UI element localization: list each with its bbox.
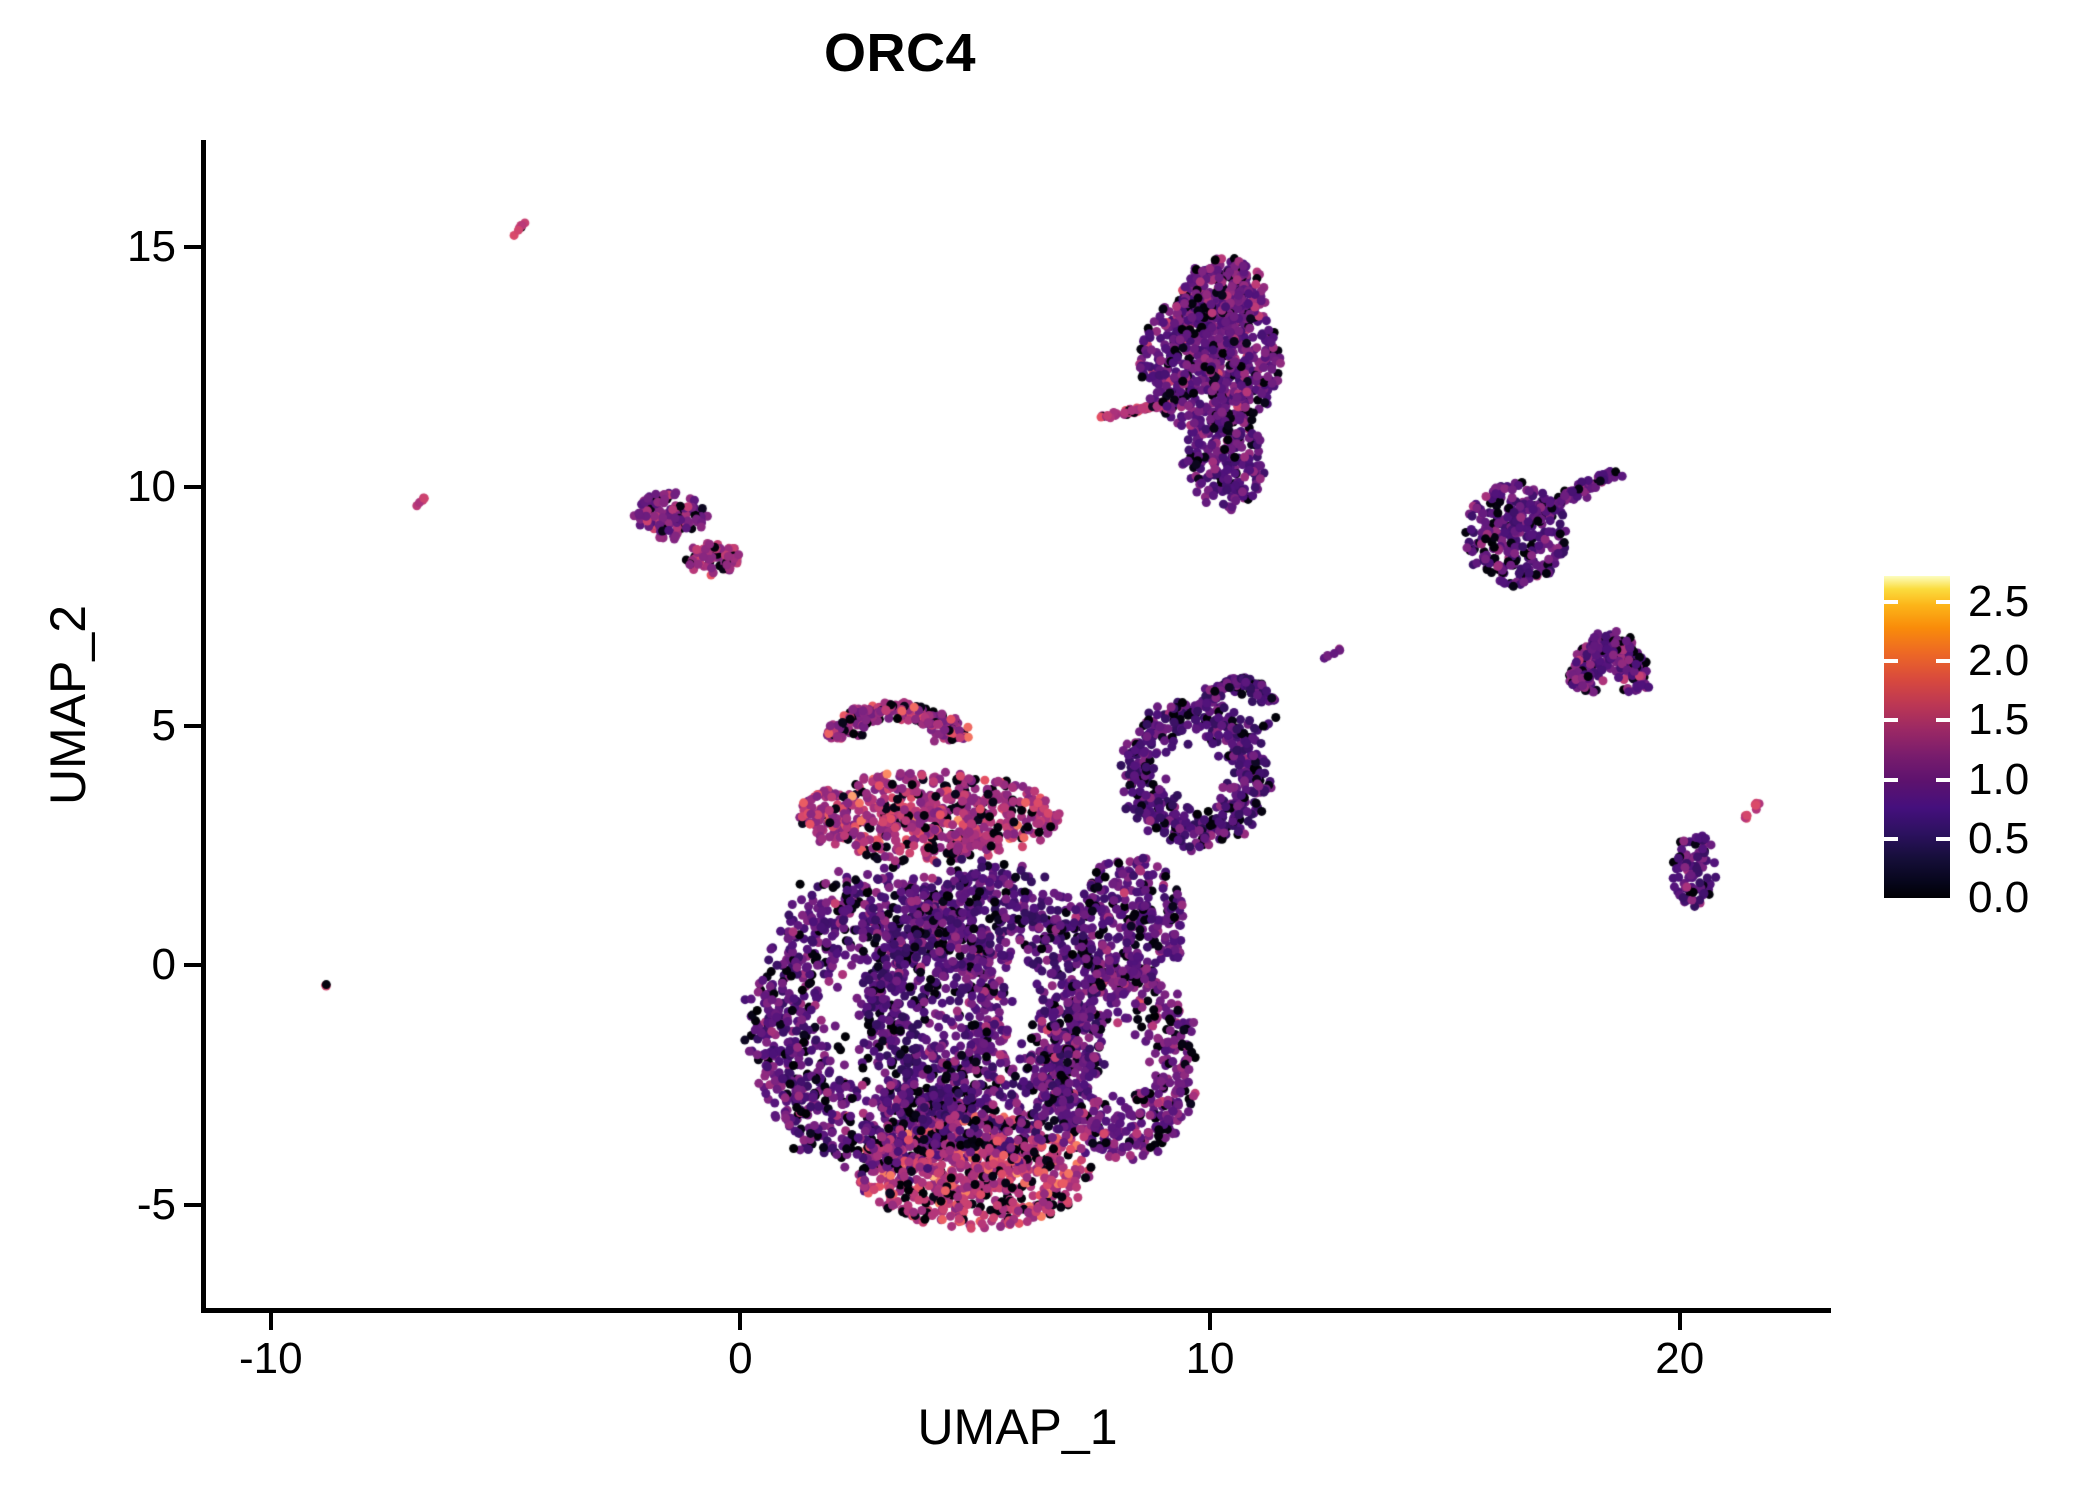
- y-tick-mark: [184, 1203, 201, 1207]
- x-tick-label: -10: [239, 1334, 303, 1384]
- x-tick-mark: [269, 1313, 273, 1330]
- x-tick-mark: [1208, 1313, 1212, 1330]
- legend-tick-mark: [1884, 778, 1898, 782]
- legend-tick-mark: [1936, 659, 1950, 663]
- legend-tick-mark: [1884, 659, 1898, 663]
- legend-tick-label: 0.0: [1968, 873, 2029, 923]
- legend-tick-mark: [1936, 718, 1950, 722]
- x-tick-label: 0: [728, 1334, 752, 1384]
- x-tick-label: 20: [1655, 1334, 1704, 1384]
- legend-tick-label: 1.0: [1968, 755, 2029, 805]
- x-tick-label: 10: [1186, 1334, 1235, 1384]
- scatter-plot-canvas: [205, 142, 1830, 1310]
- color-legend: 0.00.51.01.52.02.5: [1884, 576, 2084, 906]
- page-title: ORC4: [0, 22, 1800, 84]
- legend-tick-label: 2.0: [1968, 636, 2029, 686]
- y-axis-title: UMAP_2: [39, 305, 97, 1105]
- plot-panel: [205, 142, 1830, 1310]
- y-tick-mark: [184, 485, 201, 489]
- legend-tick-label: 1.5: [1968, 695, 2029, 745]
- legend-tick-label: 2.5: [1968, 577, 2029, 627]
- legend-tick-mark: [1936, 778, 1950, 782]
- x-axis-title: UMAP_1: [205, 1398, 1830, 1456]
- legend-tick-mark: [1936, 837, 1950, 841]
- legend-tick-mark: [1936, 600, 1950, 604]
- chart-page: ORC4 -5051015 -1001020 UMAP_1 UMAP_2 0.0…: [0, 0, 2100, 1500]
- x-tick-mark: [738, 1313, 742, 1330]
- y-axis-line: [201, 140, 206, 1312]
- y-tick-mark: [184, 724, 201, 728]
- x-axis-line: [201, 1308, 1831, 1313]
- y-tick-mark: [184, 963, 201, 967]
- legend-colorbar: [1884, 576, 1950, 898]
- y-tick-label: 15: [0, 222, 176, 272]
- legend-tick-mark: [1884, 837, 1898, 841]
- legend-tick-mark: [1884, 718, 1898, 722]
- legend-tick-label: 0.5: [1968, 814, 2029, 864]
- x-tick-mark: [1678, 1313, 1682, 1330]
- legend-tick-mark: [1884, 600, 1898, 604]
- y-tick-mark: [184, 245, 201, 249]
- y-tick-label: -5: [0, 1180, 176, 1230]
